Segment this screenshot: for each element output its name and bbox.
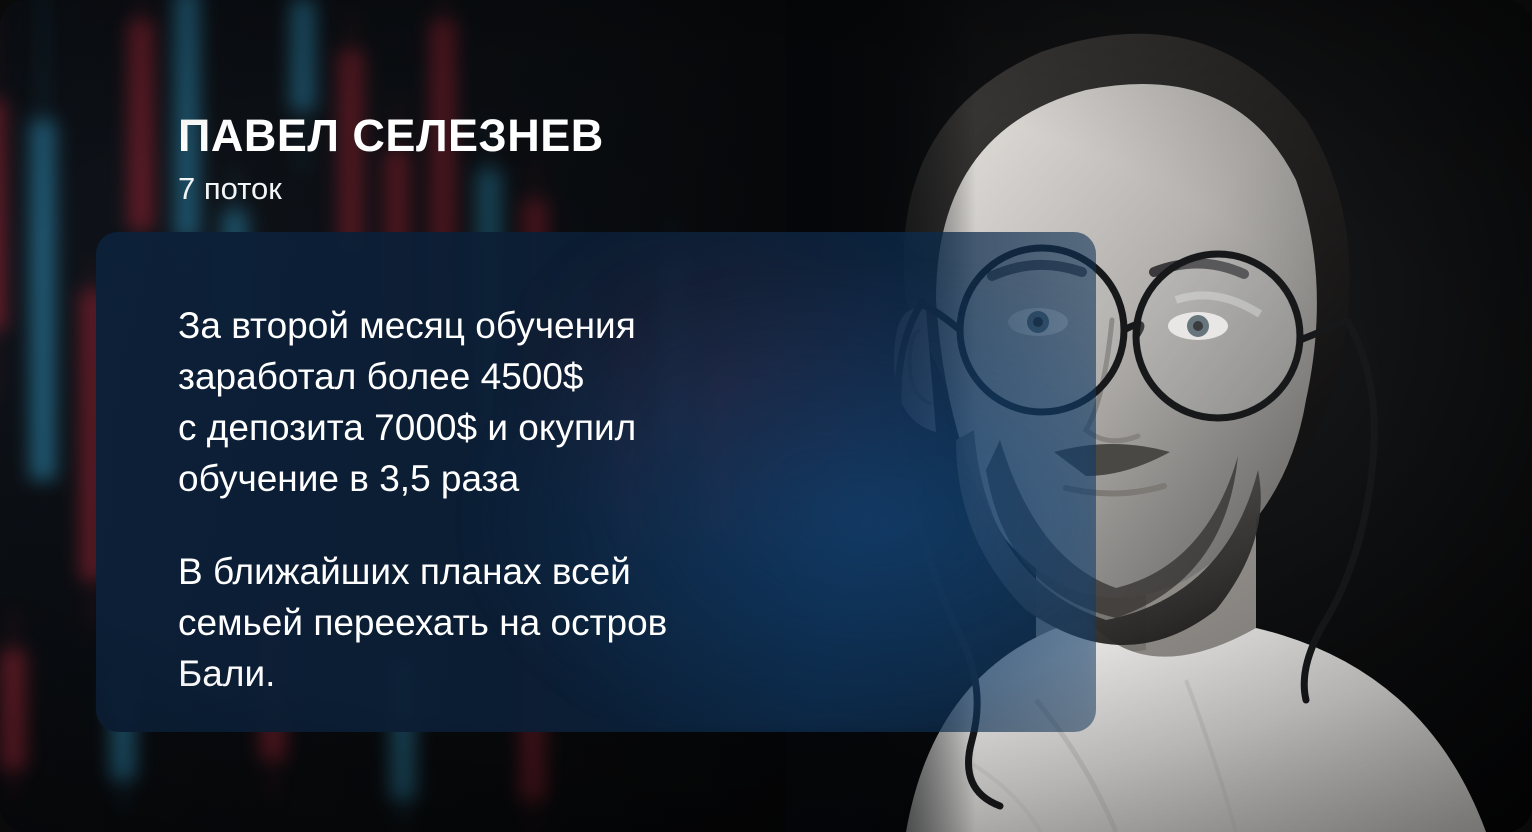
heading-block: ПАВЕЛ СЕЛЕЗНЕВ 7 поток (178, 112, 998, 207)
person-name: ПАВЕЛ СЕЛЕЗНЕВ (178, 112, 998, 160)
card-text-block: За второй месяц обучения заработал более… (178, 300, 1036, 699)
testimonial-paragraph-1: За второй месяц обучения заработал более… (178, 300, 1036, 504)
stream-label: 7 поток (178, 170, 998, 207)
testimonial-banner: За второй месяц обучения заработал более… (0, 0, 1532, 832)
testimonial-card: За второй месяц обучения заработал более… (96, 232, 1096, 732)
testimonial-paragraph-2: В ближайших планах всей семьей переехать… (178, 546, 1036, 699)
